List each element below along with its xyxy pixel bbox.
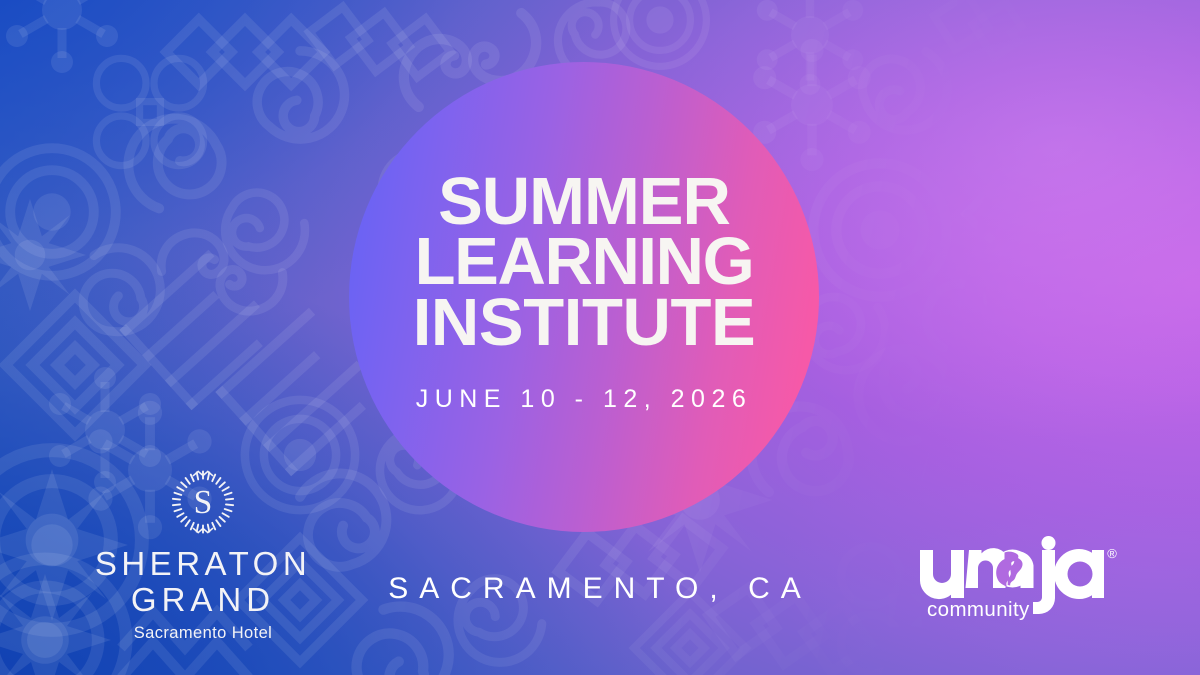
sheraton-s-emblem-icon: S	[167, 466, 239, 538]
event-date: JUNE 10 - 12, 2026	[349, 385, 819, 414]
sheraton-subtitle: Sacramento Hotel	[85, 624, 321, 643]
umoja-community-logo: ® community	[916, 538, 1126, 620]
sheraton-emblem-letter: S	[194, 484, 213, 521]
umoja-registered-mark: ®	[1107, 546, 1117, 561]
poster-canvas: SUMMER LEARNING INSTITUTE JUNE 10 - 12, …	[0, 0, 1200, 675]
headline-line-2: LEARNING	[349, 232, 819, 292]
headline-line-1: SUMMER	[349, 172, 819, 232]
sheraton-name-line-2: GRAND	[85, 582, 321, 618]
sheraton-grand-logo: S SHERATON GRAND Sacramento Hotel	[85, 466, 321, 643]
umoja-globe-o-icon	[994, 550, 1032, 588]
page-title: SUMMER LEARNING INSTITUTE	[349, 172, 819, 353]
umoja-tagline: community	[927, 598, 1030, 621]
headline-line-3: INSTITUTE	[349, 293, 819, 353]
umoja-j-dot	[1042, 536, 1056, 550]
sheraton-name-line-1: SHERATON	[85, 546, 321, 582]
event-location: SACRAMENTO, CA	[330, 572, 870, 606]
